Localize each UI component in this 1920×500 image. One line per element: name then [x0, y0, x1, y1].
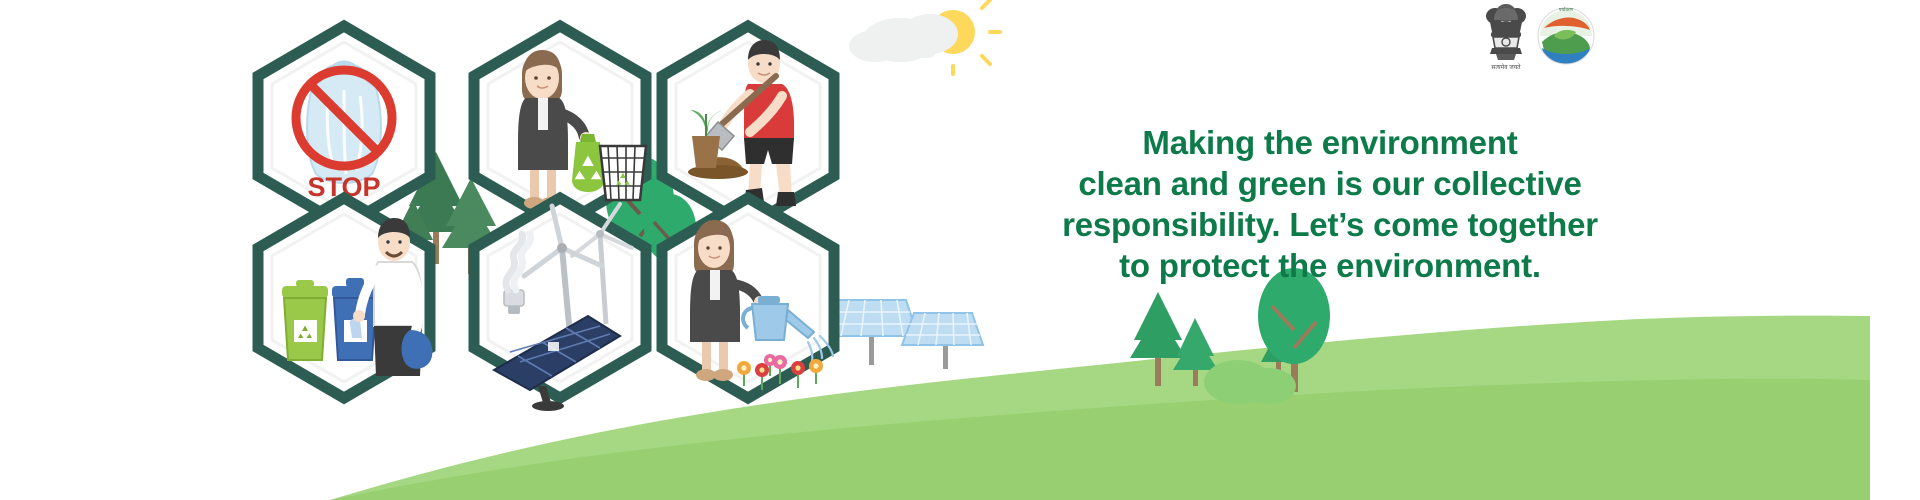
- environment-ministry-logo-icon: पर्यावरण: [1534, 2, 1598, 70]
- emblem-group: सत्यमेव जयते पर्यावरण: [1478, 2, 1598, 74]
- hexagon-water-plants[interactable]: [648, 190, 848, 420]
- quote-line-2: clean and green is our collective: [1000, 163, 1660, 204]
- state-emblem-of-india-icon: सत्यमेव जयते: [1478, 2, 1534, 74]
- quote-line-3: responsibility. Let’s come together: [1000, 204, 1660, 245]
- environment-awareness-banner: STOP: [0, 0, 1920, 500]
- hexagon-recycling-bins[interactable]: [244, 190, 444, 420]
- quote-text: Making the environment clean and green i…: [1000, 122, 1660, 286]
- quote-line-4: to protect the environment.: [1000, 245, 1660, 286]
- man-with-recycling-bins-illustration: [244, 190, 444, 420]
- flower-row: [737, 354, 823, 390]
- watering-can-icon: [743, 296, 814, 340]
- quote-line-1: Making the environment: [1000, 122, 1660, 163]
- woman-watering-flowers-illustration: [648, 190, 848, 420]
- svg-text:सत्यमेव जयते: सत्यमेव जयते: [1491, 63, 1521, 71]
- hexagon-cluster: STOP: [0, 0, 1060, 470]
- hexagon-renewable-energy[interactable]: [460, 190, 660, 420]
- renewable-energy-illustration: [460, 190, 660, 420]
- solar-panel-icon: [494, 316, 620, 411]
- svg-text:पर्यावरण: पर्यावरण: [1559, 6, 1574, 12]
